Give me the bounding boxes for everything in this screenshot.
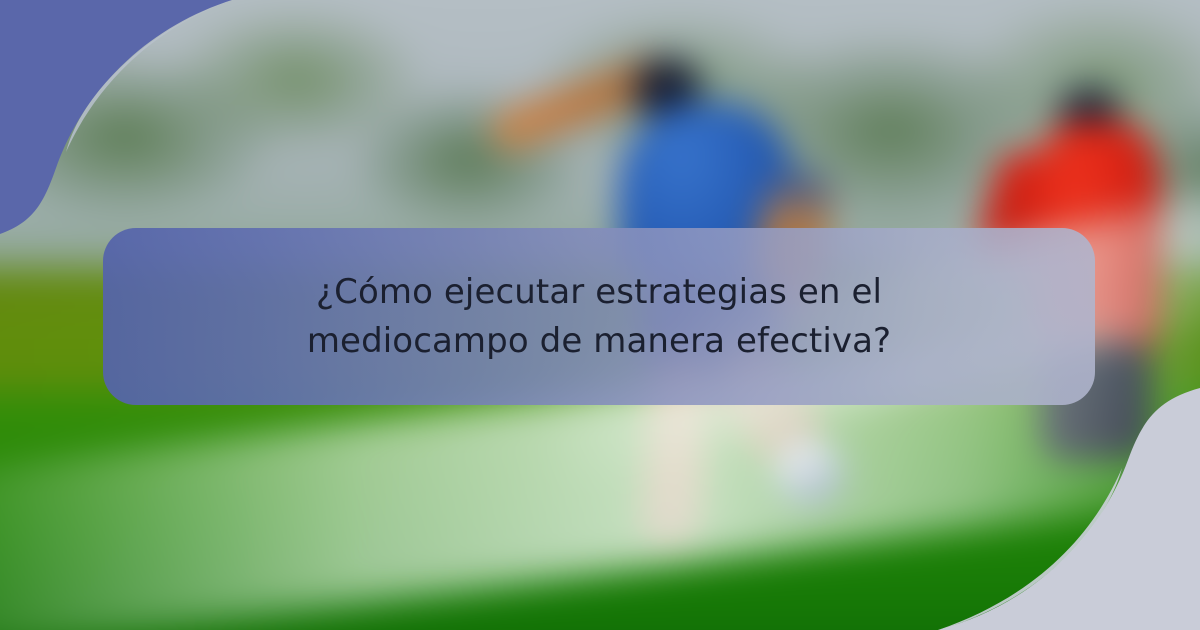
title-card: ¿Cómo ejecutar estrategias en el medioca… bbox=[103, 228, 1095, 405]
hero-card-image: ¿Cómo ejecutar estrategias en el medioca… bbox=[0, 0, 1200, 630]
page-title-line-2: mediocampo de manera efectiva? bbox=[143, 317, 1055, 366]
soccer-ball-patch bbox=[796, 464, 822, 488]
page-title: ¿Cómo ejecutar estrategias en el medioca… bbox=[103, 268, 1095, 366]
page-title-line-1: ¿Cómo ejecutar estrategias en el bbox=[143, 268, 1055, 317]
